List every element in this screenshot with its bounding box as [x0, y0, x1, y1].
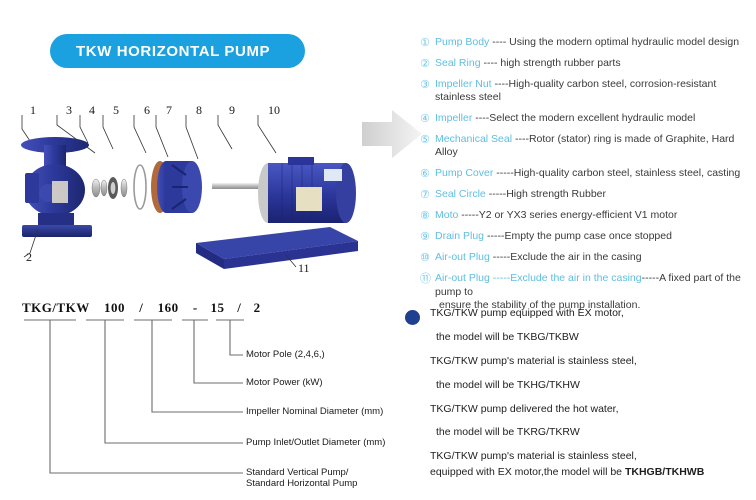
notes-body: TKG/TKW pump equipped with EX motor, the…	[430, 308, 756, 477]
legend-item-8: ⑧ Moto -----Y2 or YX3 series energy-effi…	[420, 209, 756, 223]
legend-text-7: Seal Circle -----High strength Rubber	[435, 188, 606, 201]
gasket-ring-graphic	[134, 165, 146, 209]
note-final-model: TKHGB/TKHWB	[625, 466, 704, 478]
pump-type-line-1: Standard Vertical Pump/	[246, 467, 348, 478]
callout-3: 3	[66, 103, 72, 118]
page-title: TKW HORIZONTAL PUMP	[50, 43, 270, 60]
pump-exploded-diagram: 1 3 4 5 6 7 8 9 10 2 11	[0, 95, 400, 295]
flow-arrow	[362, 108, 424, 160]
callout-10: 10	[268, 103, 280, 118]
note-line-7: TKG/TKW pump's material is stainless ste…	[430, 451, 756, 462]
legend-item-4: ④ Impeller ----Select the modern excelle…	[420, 112, 756, 126]
pump-type-line-2: Standard Horizontal Pump	[246, 478, 357, 489]
legend-item-2: ② Seal Ring ---- high strength rubber pa…	[420, 57, 756, 71]
note-final-prefix: equipped with EX motor,the model will be	[430, 466, 625, 478]
note-line-6: the model will be TKRG/TKRW	[430, 427, 756, 438]
legend-number-7: ⑦	[420, 188, 435, 202]
legend-text-2: Seal Ring ---- high strength rubber part…	[435, 57, 621, 70]
legend-text-4: Impeller ----Select the modern excellent…	[435, 112, 695, 125]
nomenclature-label-motor-power: Motor Power (kW)	[246, 377, 323, 388]
parts-legend: ① Pump Body ---- Using the modern optima…	[420, 36, 756, 319]
callout-5: 5	[113, 103, 119, 118]
page-title-badge: TKW HORIZONTAL PUMP	[50, 34, 305, 68]
legend-text-5: Mechanical Seal ----Rotor (stator) ring …	[435, 133, 756, 159]
model-nomenclature: TKG/TKW 100 / 160 - 15 / 2	[0, 295, 400, 500]
legend-item-5: ⑤ Mechanical Seal ----Rotor (stator) rin…	[420, 133, 756, 159]
legend-number-9: ⑨	[420, 230, 435, 244]
callout-4: 4	[89, 103, 95, 118]
callout-2: 2	[26, 250, 32, 265]
legend-text-11: Air-out Plug -----Exclude the air in the…	[435, 272, 756, 311]
legend-text-6: Pump Cover -----High-quality carbon stee…	[435, 167, 740, 180]
nomenclature-label-pump-type: Standard Vertical Pump/ Standard Horizon…	[246, 467, 357, 489]
legend-text-10: Air-out Plug -----Exclude the air in the…	[435, 251, 642, 264]
impeller-graphic	[151, 161, 202, 213]
legend-text-9: Drain Plug -----Empty the pump case once…	[435, 230, 672, 243]
callout-11: 11	[298, 261, 310, 276]
legend-text-1: Pump Body ---- Using the modern optimal …	[435, 36, 739, 49]
legend-number-10: ⑩	[420, 251, 435, 265]
nomenclature-label-motor-pole: Motor Pole (2,4,6,)	[246, 349, 325, 360]
note-line-2: the model will be TKBG/TKBW	[430, 332, 756, 343]
callout-6: 6	[144, 103, 150, 118]
callout-7: 7	[166, 103, 172, 118]
note-line-8: equipped with EX motor,the model will be…	[430, 467, 756, 478]
legend-item-11: ⑪ Air-out Plug -----Exclude the air in t…	[420, 272, 756, 311]
product-spec-page: TKW HORIZONTAL PUMP	[0, 0, 756, 500]
legend-item-3: ③ Impeller Nut ----High-quality carbon s…	[420, 78, 756, 104]
legend-text-8: Moto -----Y2 or YX3 series energy-effici…	[435, 209, 677, 222]
pump-illustration	[0, 95, 400, 295]
callout-9: 9	[229, 103, 235, 118]
legend-item-7: ⑦ Seal Circle -----High strength Rubber	[420, 188, 756, 202]
seal-parts-graphic	[92, 177, 127, 199]
legend-number-8: ⑧	[420, 209, 435, 223]
legend-item-6: ⑥ Pump Cover -----High-quality carbon st…	[420, 167, 756, 181]
nomenclature-label-inlet-diameter: Pump Inlet/Outlet Diameter (mm)	[246, 437, 385, 448]
legend-text-3: Impeller Nut ----High-quality carbon ste…	[435, 78, 756, 104]
note-line-1: TKG/TKW pump equipped with EX motor,	[430, 308, 756, 319]
note-line-4: the model will be TKHG/TKHW	[430, 380, 756, 391]
note-line-5: TKG/TKW pump delivered the hot water,	[430, 404, 756, 415]
callout-1: 1	[30, 103, 36, 118]
legend-number-3: ③	[420, 78, 435, 92]
legend-number-2: ②	[420, 57, 435, 71]
legend-number-5: ⑤	[420, 133, 435, 147]
callout-8: 8	[196, 103, 202, 118]
legend-item-10: ⑩ Air-out Plug -----Exclude the air in t…	[420, 251, 756, 265]
legend-number-1: ①	[420, 36, 435, 50]
nomenclature-label-impeller-diameter: Impeller Nominal Diameter (mm)	[246, 406, 383, 417]
legend-number-6: ⑥	[420, 167, 435, 181]
motor-graphic	[258, 157, 356, 223]
base-plate-graphic	[196, 227, 358, 269]
legend-item-1: ① Pump Body ---- Using the modern optima…	[420, 36, 756, 50]
legend-number-11: ⑪	[420, 272, 435, 286]
bullet-icon	[405, 310, 420, 325]
pump-body-graphic	[21, 137, 92, 237]
legend-number-4: ④	[420, 112, 435, 126]
note-line-3: TKG/TKW pump's material is stainless ste…	[430, 356, 756, 367]
model-variant-notes: TKG/TKW pump equipped with EX motor, the…	[404, 308, 756, 491]
legend-item-9: ⑨ Drain Plug -----Empty the pump case on…	[420, 230, 756, 244]
